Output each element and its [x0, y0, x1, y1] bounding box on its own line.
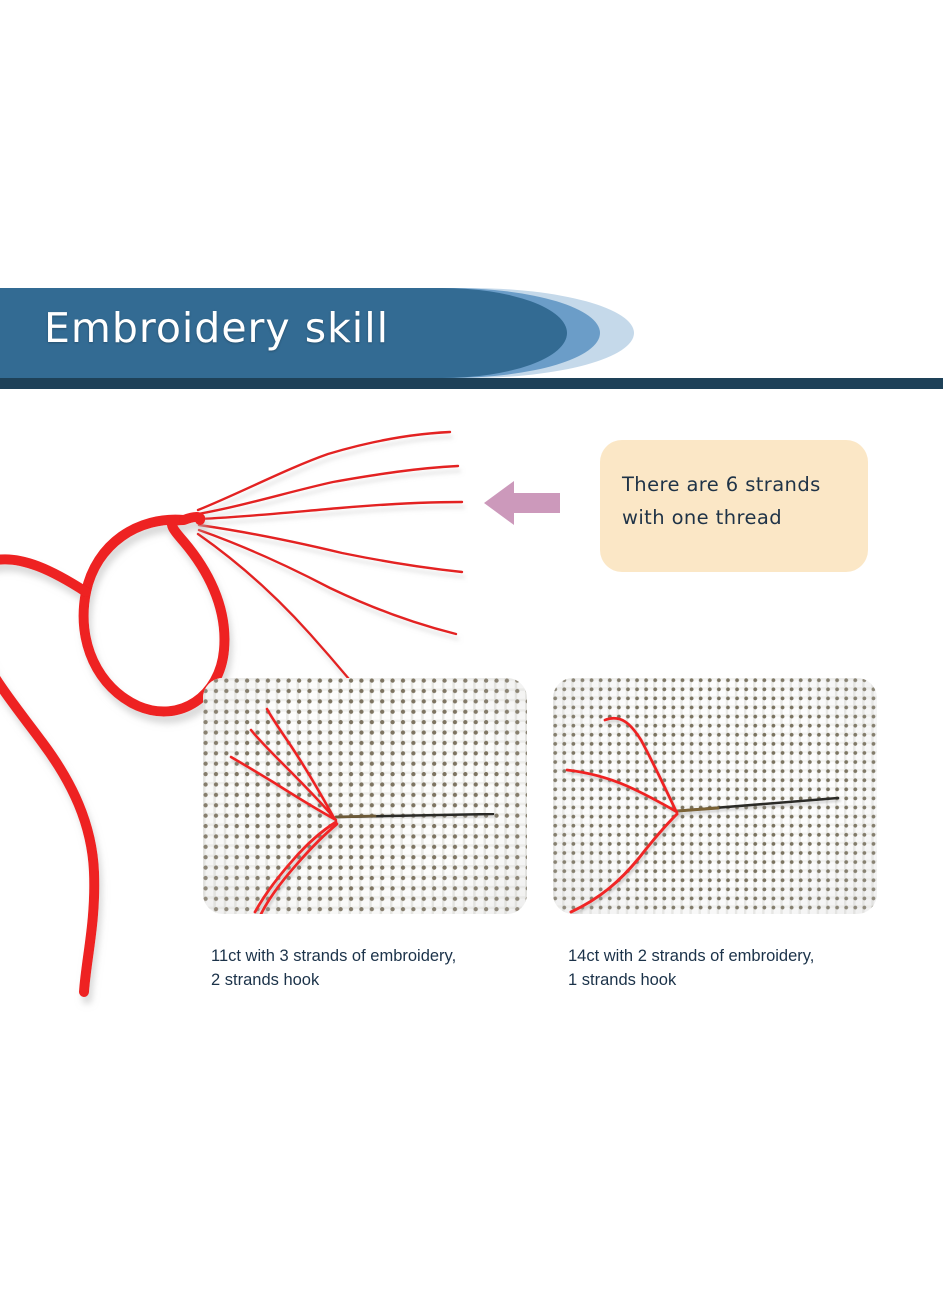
needle-icon: [677, 798, 838, 811]
callout-arrow-icon: [484, 478, 560, 528]
photo-aida-cloth-11ct: [203, 678, 527, 914]
page-header-banner: Embroidery skill: [0, 288, 943, 388]
caption-right-line-2: 1 strands hook: [568, 968, 908, 992]
caption-left-line-1: 11ct with 3 strands of embroidery,: [211, 944, 551, 968]
caption-left: 11ct with 3 strands of embroidery, 2 str…: [211, 944, 551, 992]
caption-left-line-2: 2 strands hook: [211, 968, 551, 992]
thread-main-cord: [0, 517, 224, 992]
photo-threads-and-needle-left: [203, 678, 527, 914]
needle-icon: [336, 814, 493, 817]
header-underbar: [0, 378, 943, 389]
photo-threads-and-needle-right: [553, 678, 877, 914]
caption-right-line-1: 14ct with 2 strands of embroidery,: [568, 944, 908, 968]
callout-line-2: with one thread: [622, 501, 842, 534]
photo-aida-cloth-14ct: [553, 678, 877, 914]
callout-line-1: There are 6 strands: [622, 468, 842, 501]
page-title: Embroidery skill: [44, 304, 389, 352]
caption-right: 14ct with 2 strands of embroidery, 1 str…: [568, 944, 908, 992]
callout-box: There are 6 strands with one thread: [600, 440, 868, 572]
